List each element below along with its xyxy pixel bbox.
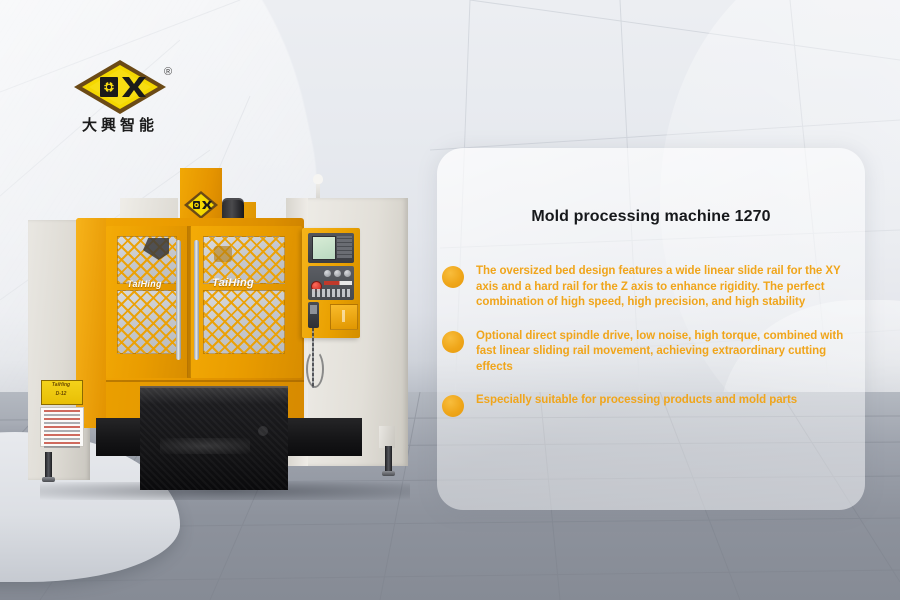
feature-list: The oversized bed design features a wide…	[442, 264, 855, 435]
control-indicator-strip	[324, 281, 352, 285]
machine-door-handle-left	[176, 240, 181, 360]
feature-text: Especially suitable for processing produ…	[476, 393, 797, 409]
bullet-dot-icon	[442, 395, 464, 417]
machine-warning-label	[40, 407, 84, 447]
machine-window-left-lower	[117, 290, 177, 354]
control-panel-access-door	[330, 304, 358, 330]
control-knob-2	[334, 270, 341, 277]
product-banner: ® 大興智能	[0, 0, 900, 600]
machine-brand-text-left: TaiHing	[127, 279, 162, 289]
product-info-card: Mold processing machine 1270 The oversiz…	[437, 148, 865, 510]
company-logo: ® 大興智能	[72, 58, 182, 144]
page-title: Mold processing machine 1270	[437, 208, 865, 226]
registered-trademark-icon: ®	[164, 66, 172, 78]
machine-base-port	[258, 426, 268, 436]
control-knob-1	[324, 270, 331, 277]
status-light-icon	[313, 174, 323, 184]
list-item: Especially suitable for processing produ…	[442, 393, 855, 417]
list-item: The oversized bed design features a wide…	[442, 264, 855, 311]
machine-window-right-lower	[203, 290, 285, 354]
cnc-display-screen	[312, 236, 336, 260]
pendant-cord-loop	[306, 350, 324, 388]
company-name-cn: 大興智能	[72, 114, 168, 135]
machine-column-dx-logo-icon	[180, 188, 222, 222]
machine-brand-text-right: TaiHing	[212, 277, 254, 289]
feature-text: The oversized bed design features a wide…	[476, 264, 855, 311]
handheld-pendant-screen	[310, 305, 317, 314]
machine-leveling-foot-left	[45, 452, 52, 478]
machine-foot-plate	[379, 426, 395, 448]
control-knob-3	[344, 270, 351, 277]
machine-nameplate-brand: TaiHing	[45, 382, 77, 389]
machine-interior-part-secondary	[214, 246, 232, 262]
machine-base-highlight	[160, 438, 250, 454]
machine-nameplate-model: D-12	[45, 391, 77, 398]
feature-text: Optional direct spindle drive, low noise…	[476, 329, 855, 376]
machine-door-handle-right	[194, 240, 199, 360]
machine-door-gap	[187, 226, 191, 378]
bullet-dot-icon	[442, 331, 464, 353]
cnc-keypad	[337, 236, 352, 258]
machine-photo: TaiHing TaiHing TaiHing D-12	[0, 150, 440, 480]
control-button-row	[312, 289, 352, 297]
list-item: Optional direct spindle drive, low noise…	[442, 329, 855, 376]
machine-enclosure-seam	[76, 380, 304, 382]
machine-leveling-foot-right	[385, 446, 392, 472]
bullet-dot-icon	[442, 266, 464, 288]
